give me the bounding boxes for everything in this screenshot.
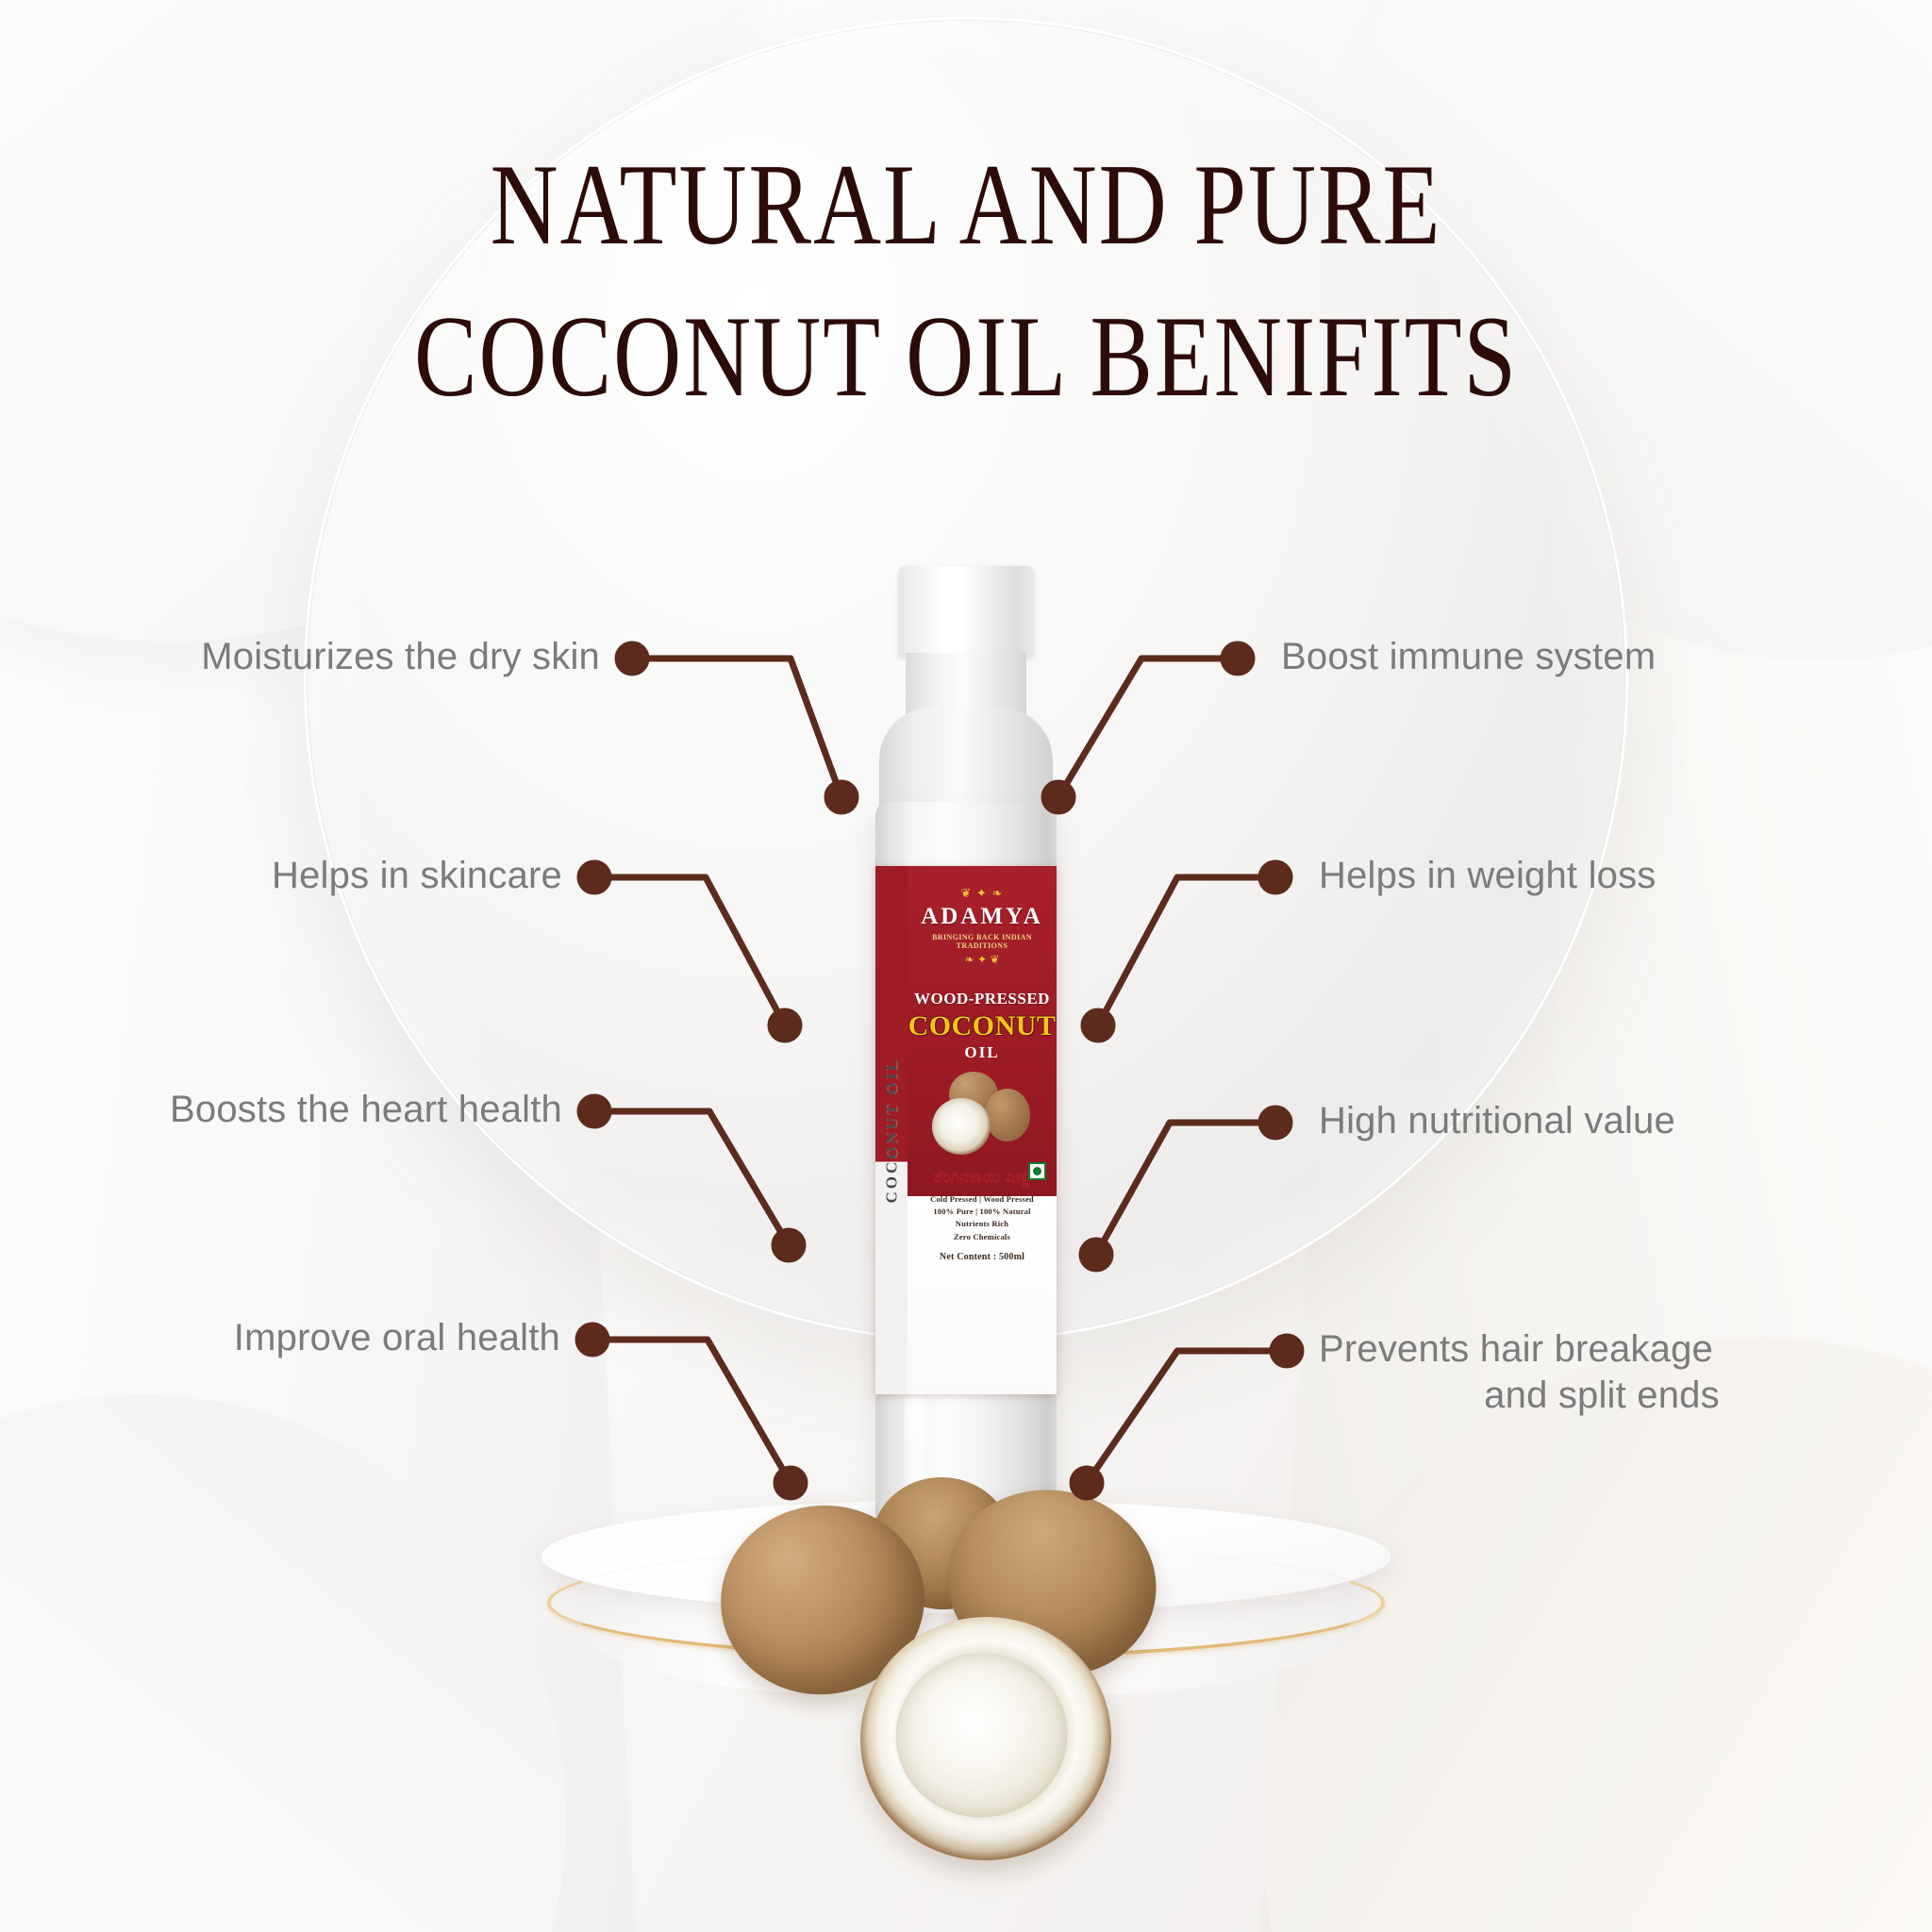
label-ornament-bottom-icon: ❧ ✦ ❦ <box>908 954 1057 965</box>
benefit-label-nutritional-value[interactable]: High nutritional value <box>1319 1098 1675 1144</box>
benefit-text: High nutritional value <box>1319 1100 1675 1141</box>
benefit-text-line-1: Prevents hair breakage <box>1319 1326 1904 1373</box>
benefit-text: Boost immune system <box>1281 636 1656 677</box>
benefit-label-oral-health[interactable]: Improve oral health <box>234 1315 560 1361</box>
bottle-cap <box>898 566 1034 657</box>
label-ornament-top-icon: ❦ ✦ ❧ <box>908 887 1057 899</box>
benefit-text-line-2: and split ends <box>1319 1373 1885 1419</box>
benefit-label-skincare[interactable]: Helps in skincare <box>272 853 562 899</box>
coconut-group <box>711 1443 1221 1896</box>
benefit-label-immune-system[interactable]: Boost immune system <box>1281 634 1656 680</box>
label-side-strip: COCONUT OIL <box>875 866 908 1394</box>
brand-name: ADAMYA <box>908 904 1057 930</box>
coconut-flesh <box>888 1644 1075 1825</box>
label-claim-4: Zero Chemicals <box>908 1231 1057 1243</box>
label-claim-1: Cold Pressed | Wood Pressed <box>908 1193 1057 1206</box>
label-coconut-image <box>908 1072 1057 1162</box>
label-claim-3: Nutrients Rich <box>908 1218 1057 1230</box>
brand-tagline: BRINGING BACK INDIAN TRADITIONS <box>908 933 1057 950</box>
product-label: COCONUT OIL ❦ ✦ ❧ ADAMYA BRINGING BACK I… <box>875 866 1057 1394</box>
benefit-label-hair-breakage[interactable]: Prevents hair breakage and split ends <box>1319 1326 1904 1419</box>
label-front: ❦ ✦ ❧ ADAMYA BRINGING BACK INDIAN TRADIT… <box>908 866 1057 1394</box>
benefit-label-weight-loss[interactable]: Helps in weight loss <box>1319 853 1657 899</box>
benefit-text: Moisturizes the dry skin <box>201 636 600 677</box>
product-bottle[interactable]: COCONUT OIL ❦ ✦ ❧ ADAMYA BRINGING BACK I… <box>864 566 1068 1594</box>
infographic-canvas: NATURAL AND PURE COCONUT OIL BENIFITS CO… <box>0 0 1932 1932</box>
benefit-text: Boosts the heart health <box>170 1089 562 1130</box>
label-side-text: COCONUT OIL <box>882 1057 901 1203</box>
benefit-text: Helps in weight loss <box>1319 855 1657 896</box>
benefit-text: Improve oral health <box>234 1317 560 1358</box>
label-product-name: COCONUT <box>908 1010 1057 1042</box>
green-veg-dot-icon <box>1028 1162 1046 1180</box>
label-claims: Cold Pressed | Wood Pressed 100% Pure | … <box>908 1193 1057 1243</box>
label-claim-2: 100% Pure | 100% Natural <box>908 1206 1057 1218</box>
benefit-label-heart-health[interactable]: Boosts the heart health <box>170 1087 562 1133</box>
veg-dot-inner <box>1033 1167 1041 1175</box>
label-coconut-whole-2 <box>985 1089 1030 1141</box>
label-wood-pressed: WOOD-PRESSED <box>908 990 1057 1008</box>
benefit-text: Helps in skincare <box>272 855 562 896</box>
label-product-type: OIL <box>908 1043 1057 1062</box>
label-net-content: Net Content : 500ml <box>908 1252 1057 1262</box>
benefit-label-moisturizes[interactable]: Moisturizes the dry skin <box>201 634 600 680</box>
label-coconut-half <box>932 1098 991 1155</box>
